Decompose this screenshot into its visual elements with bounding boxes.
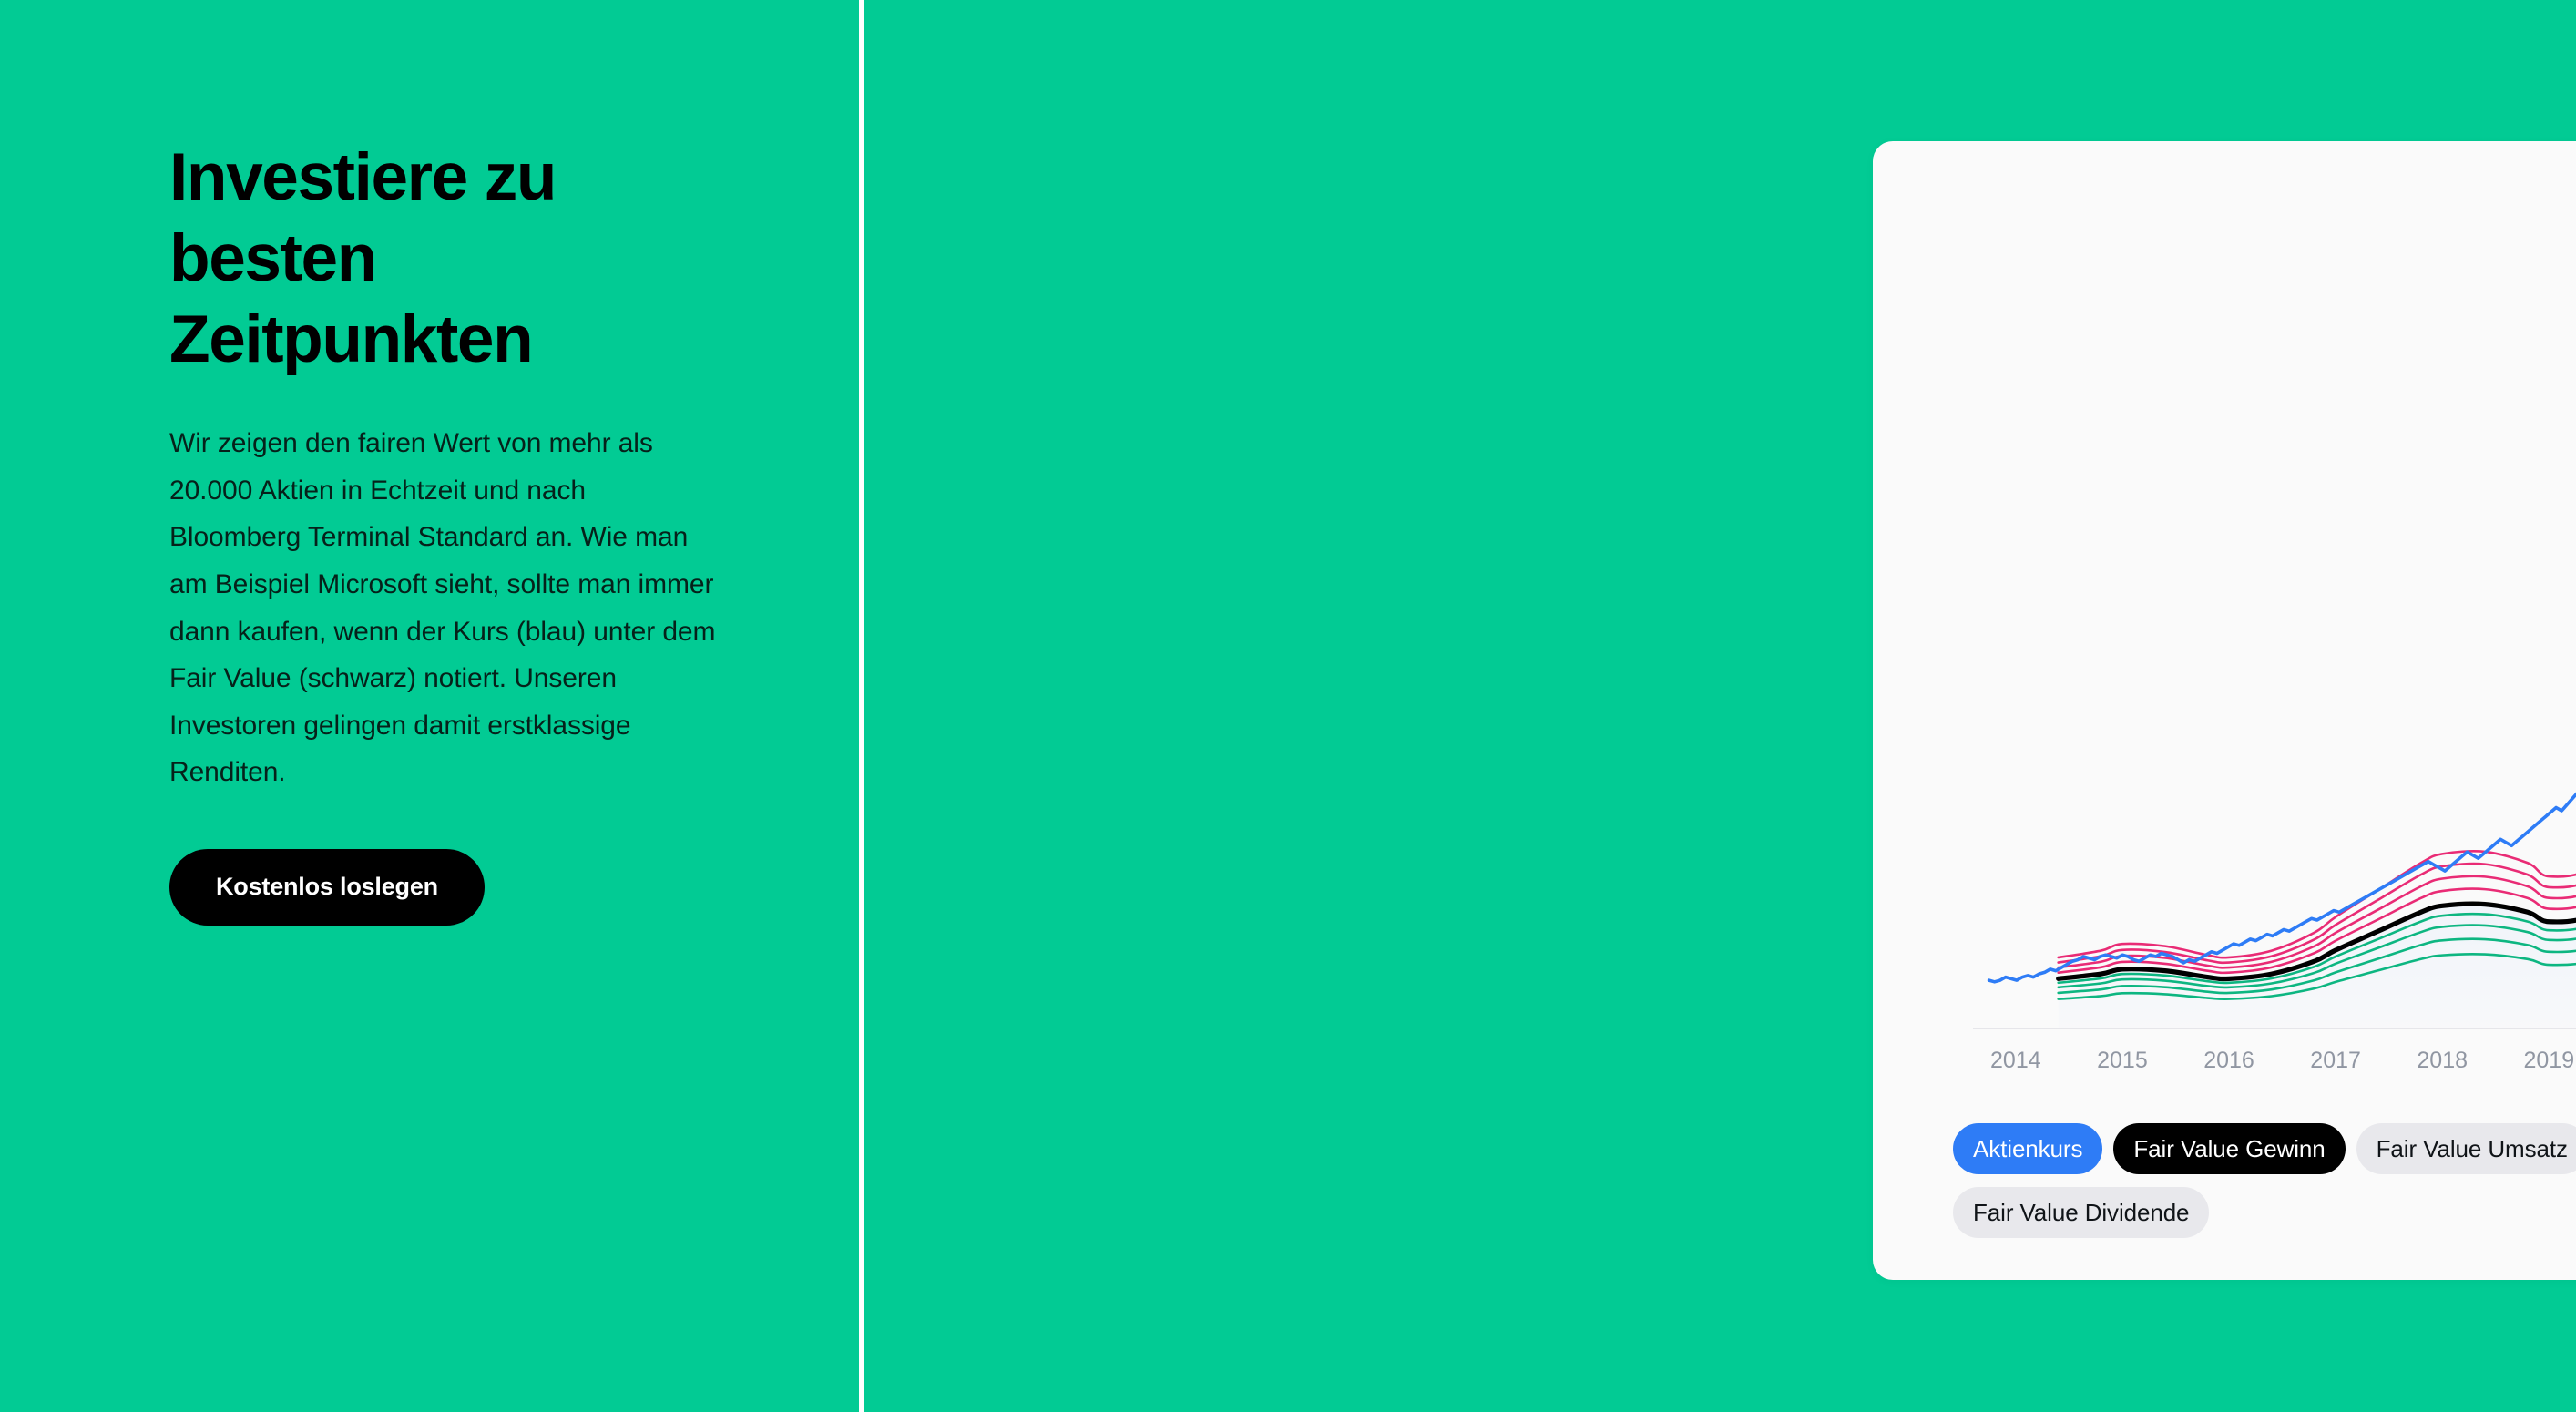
x-axis: 2014201520162017201820192020202120222023… bbox=[1973, 1048, 2576, 1084]
x-axis-tick: 2014 bbox=[1990, 1048, 2041, 1074]
hero-panel: Investiere zu besten Zeitpunkten Wir zei… bbox=[0, 0, 864, 1412]
series-filter-chips: AktienkursFair Value GewinnFair Value Um… bbox=[1953, 1123, 2576, 1238]
legend-chip-fair-value-gewinn[interactable]: Fair Value Gewinn bbox=[2113, 1123, 2345, 1174]
price-area-shading bbox=[2059, 549, 2576, 1029]
x-axis-tick: 2016 bbox=[2203, 1048, 2254, 1074]
fair-value-band-line bbox=[2059, 392, 2576, 963]
page-title: Investiere zu besten Zeitpunkten bbox=[169, 137, 607, 380]
legend-chip-fair-value-dividende[interactable]: Fair Value Dividende bbox=[1953, 1187, 2209, 1238]
legend-chip-fair-value-umsatz[interactable]: Fair Value Umsatz bbox=[2356, 1123, 2576, 1174]
chart-plot-area bbox=[1973, 301, 2576, 1029]
x-axis-tick: 2017 bbox=[2310, 1048, 2361, 1074]
fair-value-band-line bbox=[2059, 488, 2576, 973]
landing-page-section: Investiere zu besten Zeitpunkten Wir zei… bbox=[0, 0, 2576, 1412]
legend-chip-aktienkurs[interactable]: Aktienkurs bbox=[1953, 1123, 2102, 1174]
x-axis-tick: 2018 bbox=[2417, 1048, 2468, 1074]
hero-description: Wir zeigen den fairen Wert von mehr als … bbox=[169, 420, 716, 796]
fair-value-chart-svg bbox=[1973, 301, 2576, 1029]
fair-value-band-line bbox=[2059, 440, 2576, 967]
signup-cta-button[interactable]: Kostenlos loslegen bbox=[169, 849, 485, 926]
chart-panel: 1 Jahr3 Jahre5 Jahre10 JahreMax 450,0040… bbox=[864, 0, 2576, 1412]
x-axis-tick: 2015 bbox=[2097, 1048, 2148, 1074]
x-axis-tick: 2019 bbox=[2523, 1048, 2574, 1074]
fair-value-chart-card: 1 Jahr3 Jahre5 Jahre10 JahreMax 450,0040… bbox=[1873, 141, 2576, 1280]
